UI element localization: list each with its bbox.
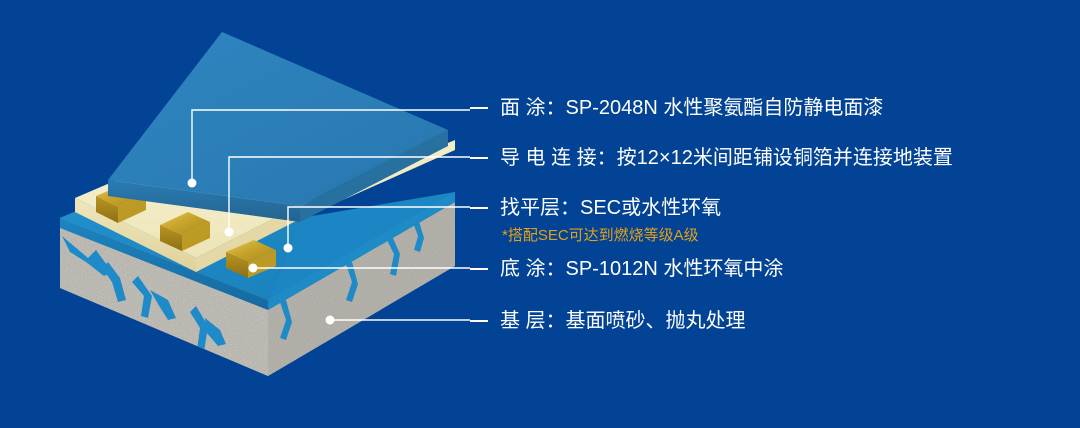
dot-conductive-connection [225,228,234,237]
leveling-layer-footnote: *搭配SEC可达到燃烧等级A级 [502,224,699,245]
dot-primer-coat [249,264,258,273]
label-conductive-connection-text: 导 电 连 接：按12×12米间距铺设铜箔并连接地装置 [500,146,953,170]
dot-substrate [326,316,335,325]
label-substrate: 基 层：基面喷砂、抛丸处理 [470,309,746,333]
label-top-coat: 面 涂：SP-2048N 水性聚氨酯自防静电面漆 [470,96,883,120]
dot-leveling-layer [284,244,293,253]
leader-dash-leveling-layer [470,207,488,208]
diagram-page: 面 涂：SP-2048N 水性聚氨酯自防静电面漆 导 电 连 接：按12×12米… [0,0,1080,428]
label-substrate-text: 基 层：基面喷砂、抛丸处理 [500,309,746,333]
leader-dash-substrate [470,320,488,321]
leader-dash-conductive-connection [470,157,488,158]
label-conductive-connection: 导 电 连 接：按12×12米间距铺设铜箔并连接地装置 [470,146,953,170]
flooring-system-cross-section [0,0,500,410]
dot-top-coat [188,179,197,188]
label-primer-coat: 底 涂：SP-1012N 水性环氧中涂 [470,257,783,281]
top-coat-layer [108,32,448,222]
label-primer-coat-text: 底 涂：SP-1012N 水性环氧中涂 [500,257,783,281]
label-leveling-layer-text: 找平层：SEC或水性环氧 [500,196,721,220]
label-column: 面 涂：SP-2048N 水性聚氨酯自防静电面漆 导 电 连 接：按12×12米… [470,0,1080,428]
leader-dash-top-coat [470,107,488,108]
label-top-coat-text: 面 涂：SP-2048N 水性聚氨酯自防静电面漆 [500,96,883,120]
leader-dash-primer-coat [470,268,488,269]
label-leveling-layer: 找平层：SEC或水性环氧 [470,196,721,220]
